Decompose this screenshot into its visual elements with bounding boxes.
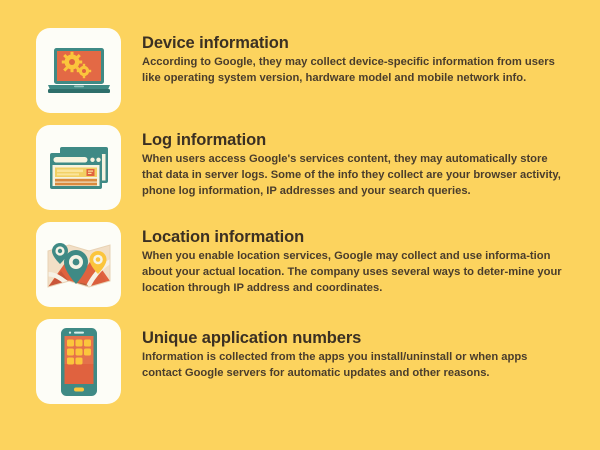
section-unique-application-numbers: Unique application numbers Information i… xyxy=(36,313,570,404)
section-location-information: Location information When you enable loc… xyxy=(36,216,570,307)
icon-card-device xyxy=(36,28,121,113)
section-title: Log information xyxy=(142,131,570,149)
section-body: Information is collected from the apps y… xyxy=(142,350,564,382)
section-log-information: Log information When users access Google… xyxy=(36,119,570,210)
smartphone-apps-icon xyxy=(57,326,101,398)
icon-card-apps xyxy=(36,319,121,404)
icon-card-log xyxy=(36,125,121,210)
section-text-log: Log information When users access Google… xyxy=(121,119,570,200)
section-body: When users access Google's services cont… xyxy=(142,152,564,200)
section-body: When you enable location services, Googl… xyxy=(142,249,564,297)
section-title: Unique application numbers xyxy=(142,329,570,347)
section-title: Device information xyxy=(142,34,570,52)
icon-card-location xyxy=(36,222,121,307)
section-title: Location information xyxy=(142,228,570,246)
browser-windows-icon xyxy=(46,141,112,195)
section-text-location: Location information When you enable loc… xyxy=(121,216,570,297)
map-pins-icon xyxy=(45,237,113,293)
section-text-apps: Unique application numbers Information i… xyxy=(121,313,570,382)
section-device-information: Device information According to Google, … xyxy=(36,22,570,113)
privacy-infographic: Device information According to Google, … xyxy=(0,0,600,450)
section-body: According to Google, they may collect de… xyxy=(142,55,564,87)
laptop-gears-icon xyxy=(46,44,112,98)
section-text-device: Device information According to Google, … xyxy=(121,22,570,87)
